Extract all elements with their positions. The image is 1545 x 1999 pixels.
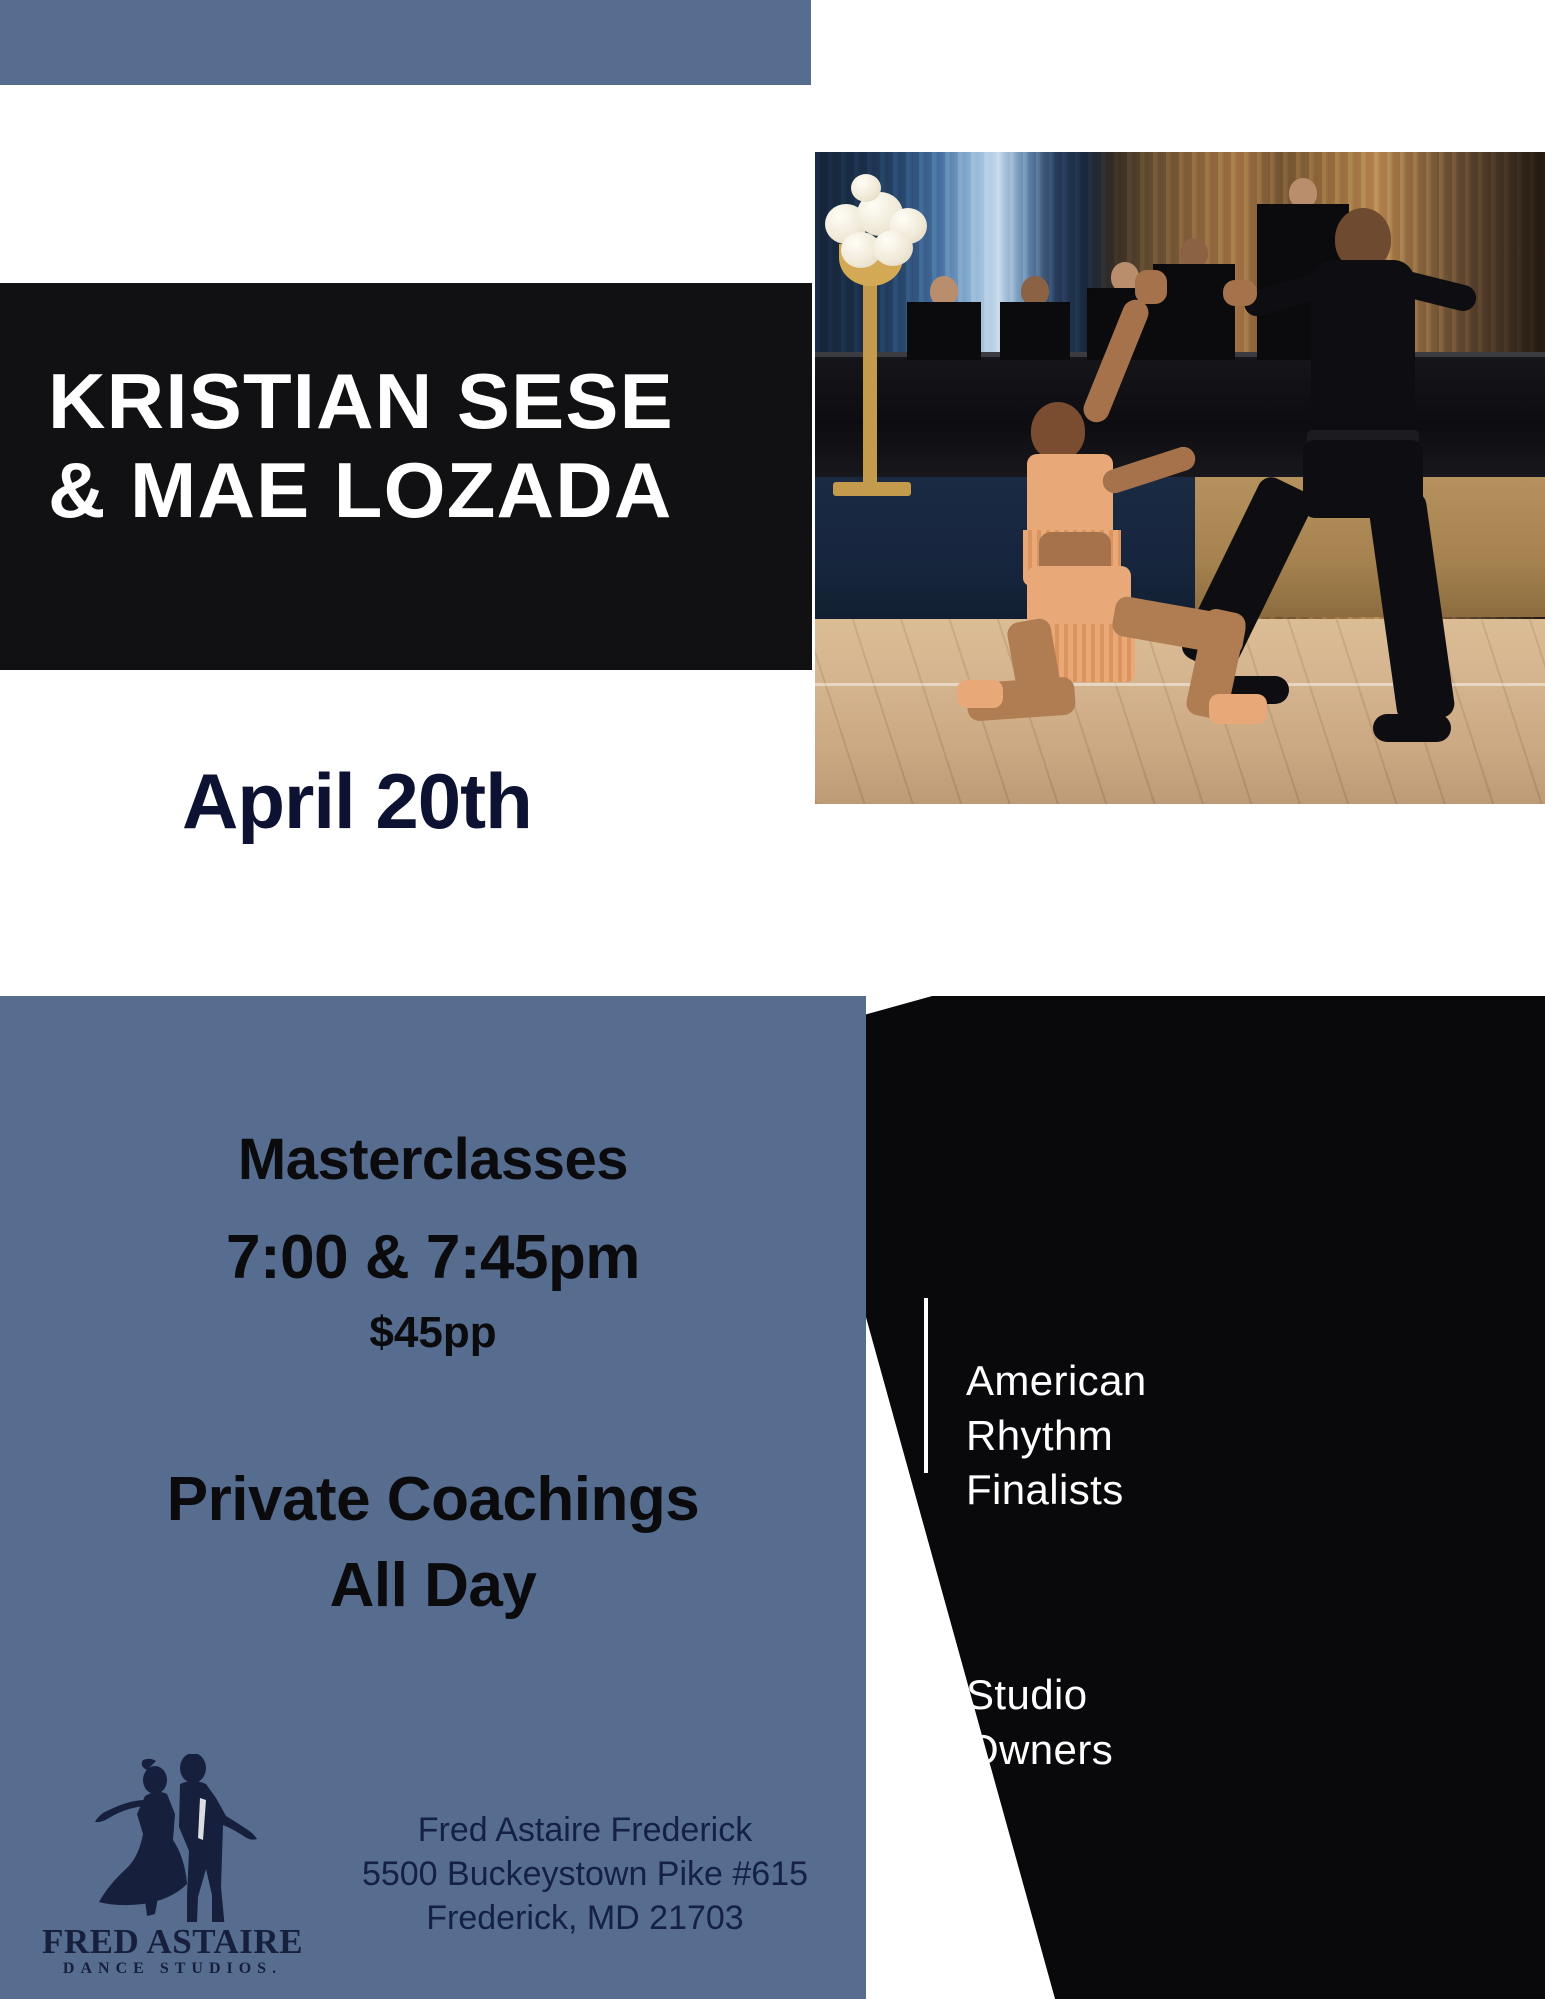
masterclasses-label: Masterclasses [0, 1126, 866, 1193]
headline-text: KRISTIAN SESE & MAE LOZADA [48, 357, 674, 535]
credential-rule [924, 1298, 928, 1473]
private-coachings-availability: All Day [0, 1550, 866, 1621]
photo-female-shoe-extended [1209, 694, 1267, 724]
credentials-list: American Rhythm Finalists Studio Owners [866, 996, 1545, 1999]
photo-female-bodice [1027, 454, 1113, 540]
top-accent-bar [0, 0, 811, 85]
photo-judge-2 [1000, 302, 1070, 360]
photo-female-hand-up [1135, 270, 1167, 304]
private-coachings-label: Private Coachings [0, 1464, 866, 1535]
logo-wordmark: FRED ASTAIRE [35, 1922, 310, 1962]
photo-flower-stand [863, 272, 877, 492]
dancers-photo [815, 152, 1545, 804]
photo-female-shoe-down [957, 680, 1003, 708]
masterclasses-price: $45pp [0, 1308, 866, 1358]
photo-male-hand-left [1223, 280, 1257, 306]
credential-text: American Rhythm Finalists [966, 1354, 1147, 1518]
masterclasses-times: 7:00 & 7:45pm [0, 1222, 866, 1293]
photo-flower [873, 230, 913, 266]
credential-rule [924, 1592, 928, 1792]
photo-female-arm-right [1100, 444, 1199, 496]
flyer-canvas: KRISTIAN SESE & MAE LOZADA April 20th Ma… [0, 0, 1545, 1999]
photo-judge-body [907, 302, 981, 360]
dancing-couple-icon [83, 1754, 268, 1922]
photo-female-dancer [983, 362, 1303, 757]
photo-male-leg-front [1367, 490, 1456, 724]
headline-band: KRISTIAN SESE & MAE LOZADA [0, 283, 812, 670]
fred-astaire-logo: FRED ASTAIRE DANCE STUDIOS. [35, 1754, 310, 1989]
photo-female-head [1031, 402, 1085, 460]
photo-flower-stand-base [833, 482, 911, 496]
event-date: April 20th [182, 756, 532, 847]
venue-address: Fred Astaire Frederick 5500 Buckeystown … [330, 1808, 840, 1941]
photo-male-shoe-front [1373, 714, 1451, 742]
logo-tagline: DANCE STUDIOS. [35, 1960, 310, 1978]
photo-flower [851, 174, 881, 202]
photo-judge-1 [907, 302, 981, 360]
credential-text: Studio Owners [966, 1668, 1113, 1777]
photo-judge-body [1000, 302, 1070, 360]
